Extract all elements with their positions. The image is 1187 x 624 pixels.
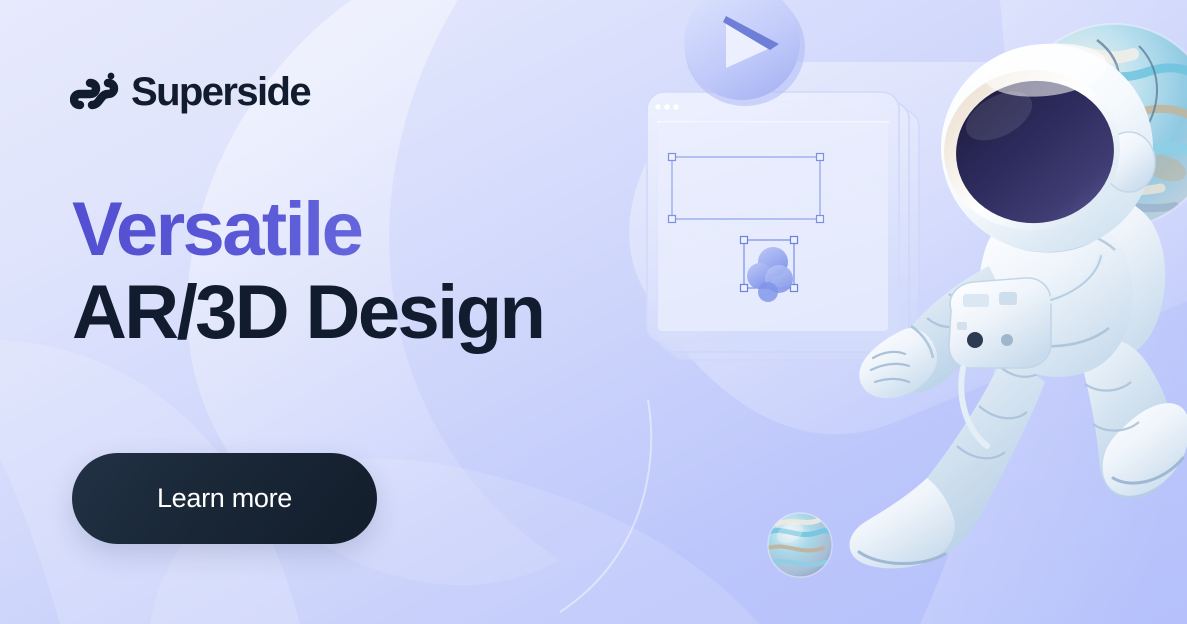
logo-dot-icon (108, 73, 115, 80)
module-lens-icon (967, 332, 983, 348)
module-screen-icon (963, 294, 989, 307)
superside-s-monogram-icon (70, 71, 128, 111)
hero-illustration (627, 0, 1187, 624)
superside-wordmark: Superside (131, 72, 310, 112)
headline-line-1: Versatile (72, 192, 692, 268)
headline-block: Versatile AR/3D Design (72, 192, 692, 355)
promo-banner: Superside Versatile AR/3D Design Learn m… (0, 0, 1187, 624)
superside-logo[interactable]: Superside (70, 68, 310, 114)
headline-line-2: AR/3D Design (72, 270, 692, 355)
window-traffic-light-dots-icon (655, 104, 678, 109)
learn-more-button[interactable]: Learn more (72, 453, 377, 544)
chest-control-module (949, 278, 1051, 368)
module-button-icon (999, 292, 1017, 305)
marbled-planet-small (768, 513, 837, 577)
module-dial-icon (1001, 334, 1013, 346)
design-canvas-stack (647, 92, 919, 360)
play-button-3d-icon[interactable] (684, 0, 805, 106)
